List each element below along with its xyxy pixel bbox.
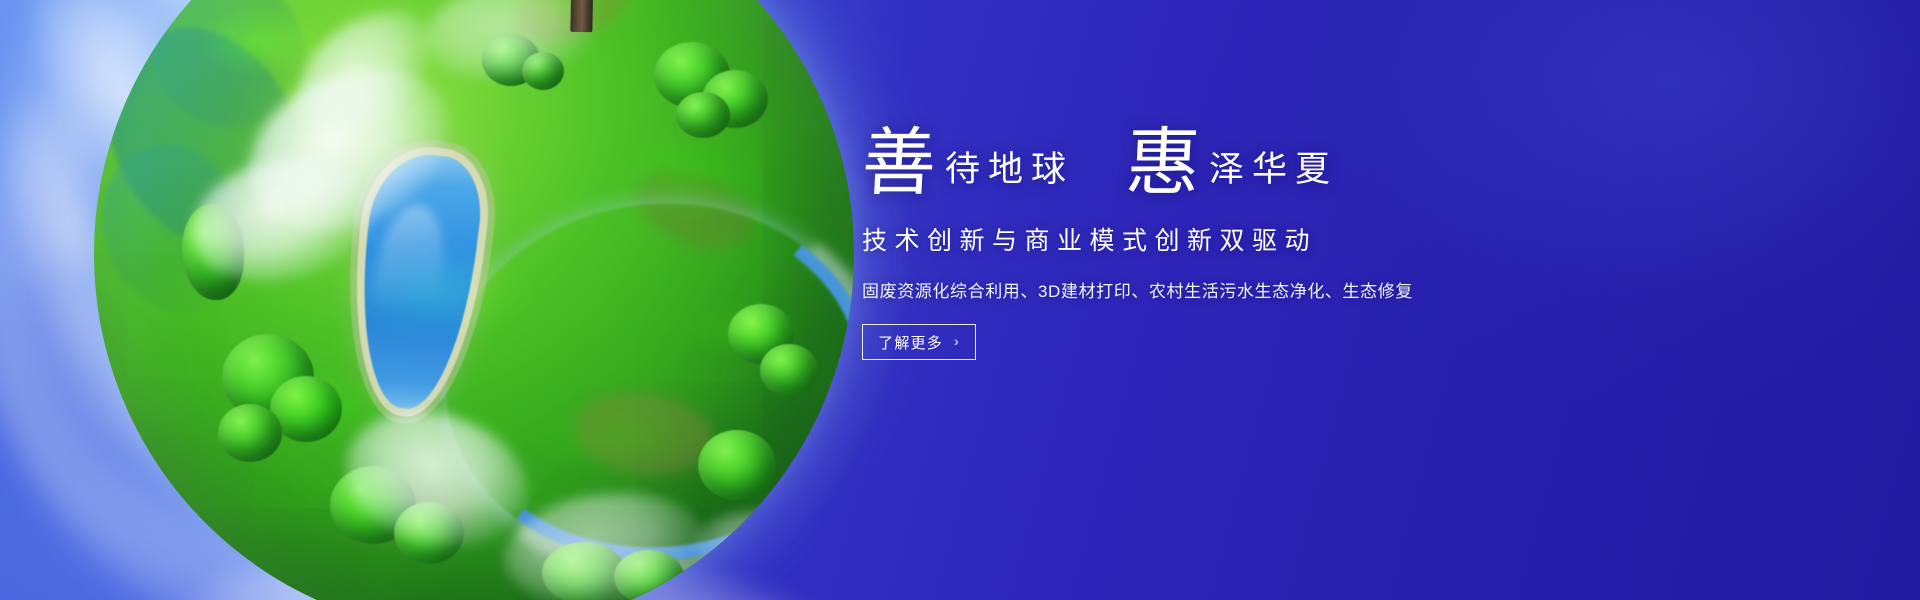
tree-canopy	[676, 92, 730, 138]
globe-cloud	[497, 481, 710, 600]
tree-canopy	[702, 70, 768, 128]
tree-canopy	[698, 430, 776, 500]
banner-description: 固废资源化综合利用、3D建材打印、农村生活污水生态净化、生态修复	[862, 277, 1642, 302]
tree-canopy	[728, 304, 794, 364]
tree-canopy	[614, 550, 684, 600]
green-planet	[94, 0, 854, 600]
river-bank	[421, 175, 854, 600]
banner-subtitle: 技术创新与商业模式创新双驱动	[862, 221, 1642, 257]
learn-more-button[interactable]: 了解更多 ›	[862, 324, 976, 360]
globe-scene	[94, 0, 854, 600]
tree-canopy	[218, 404, 282, 462]
hero-tree	[424, 0, 754, 46]
mountain-ridge	[121, 0, 333, 158]
river	[429, 183, 854, 582]
tree-canopy	[394, 502, 464, 564]
tree-canopy	[222, 334, 314, 420]
tree-canopy	[760, 344, 818, 396]
hero-banner: 善 待地球 惠 泽华夏 技术创新与商业模式创新双驱动 固废资源化综合利用、3D建…	[0, 0, 1920, 600]
mountain-ridge	[94, 130, 262, 329]
headline-char-hui: 惠	[1124, 128, 1202, 199]
tree-canopy	[270, 376, 342, 442]
lake	[347, 148, 487, 415]
tree-trunk	[570, 0, 595, 32]
headline-text-daidiqiu: 待地球	[945, 153, 1074, 199]
banner-content: 善 待地球 惠 泽华夏 技术创新与商业模式创新双驱动 固废资源化综合利用、3D建…	[862, 128, 1642, 360]
headline: 善 待地球 惠 泽华夏	[862, 128, 1642, 199]
globe-cloud	[222, 36, 477, 263]
tree-canopy	[522, 52, 564, 90]
learn-more-label: 了解更多	[878, 332, 943, 353]
tree-canopy	[182, 204, 244, 300]
tree-canopy	[330, 466, 416, 544]
chevron-right-icon: ›	[954, 334, 960, 348]
tree-canopy	[654, 42, 730, 108]
globe-cloud	[178, 138, 387, 299]
earth-patch	[341, 475, 478, 551]
headline-text-zehuaxia: 泽华夏	[1209, 153, 1338, 199]
earth-patch	[625, 154, 762, 264]
mountain-ridge	[94, 0, 335, 281]
globe-cloud	[687, 497, 854, 600]
lake-shimmer	[365, 200, 452, 349]
headline-phrase-2: 惠 泽华夏	[1126, 128, 1338, 199]
globe-cloud	[330, 391, 544, 567]
tree-canopy	[542, 542, 626, 600]
headline-phrase-1: 善 待地球	[862, 128, 1074, 199]
headline-char-shan: 善	[860, 128, 938, 199]
earth-patch	[569, 385, 719, 484]
